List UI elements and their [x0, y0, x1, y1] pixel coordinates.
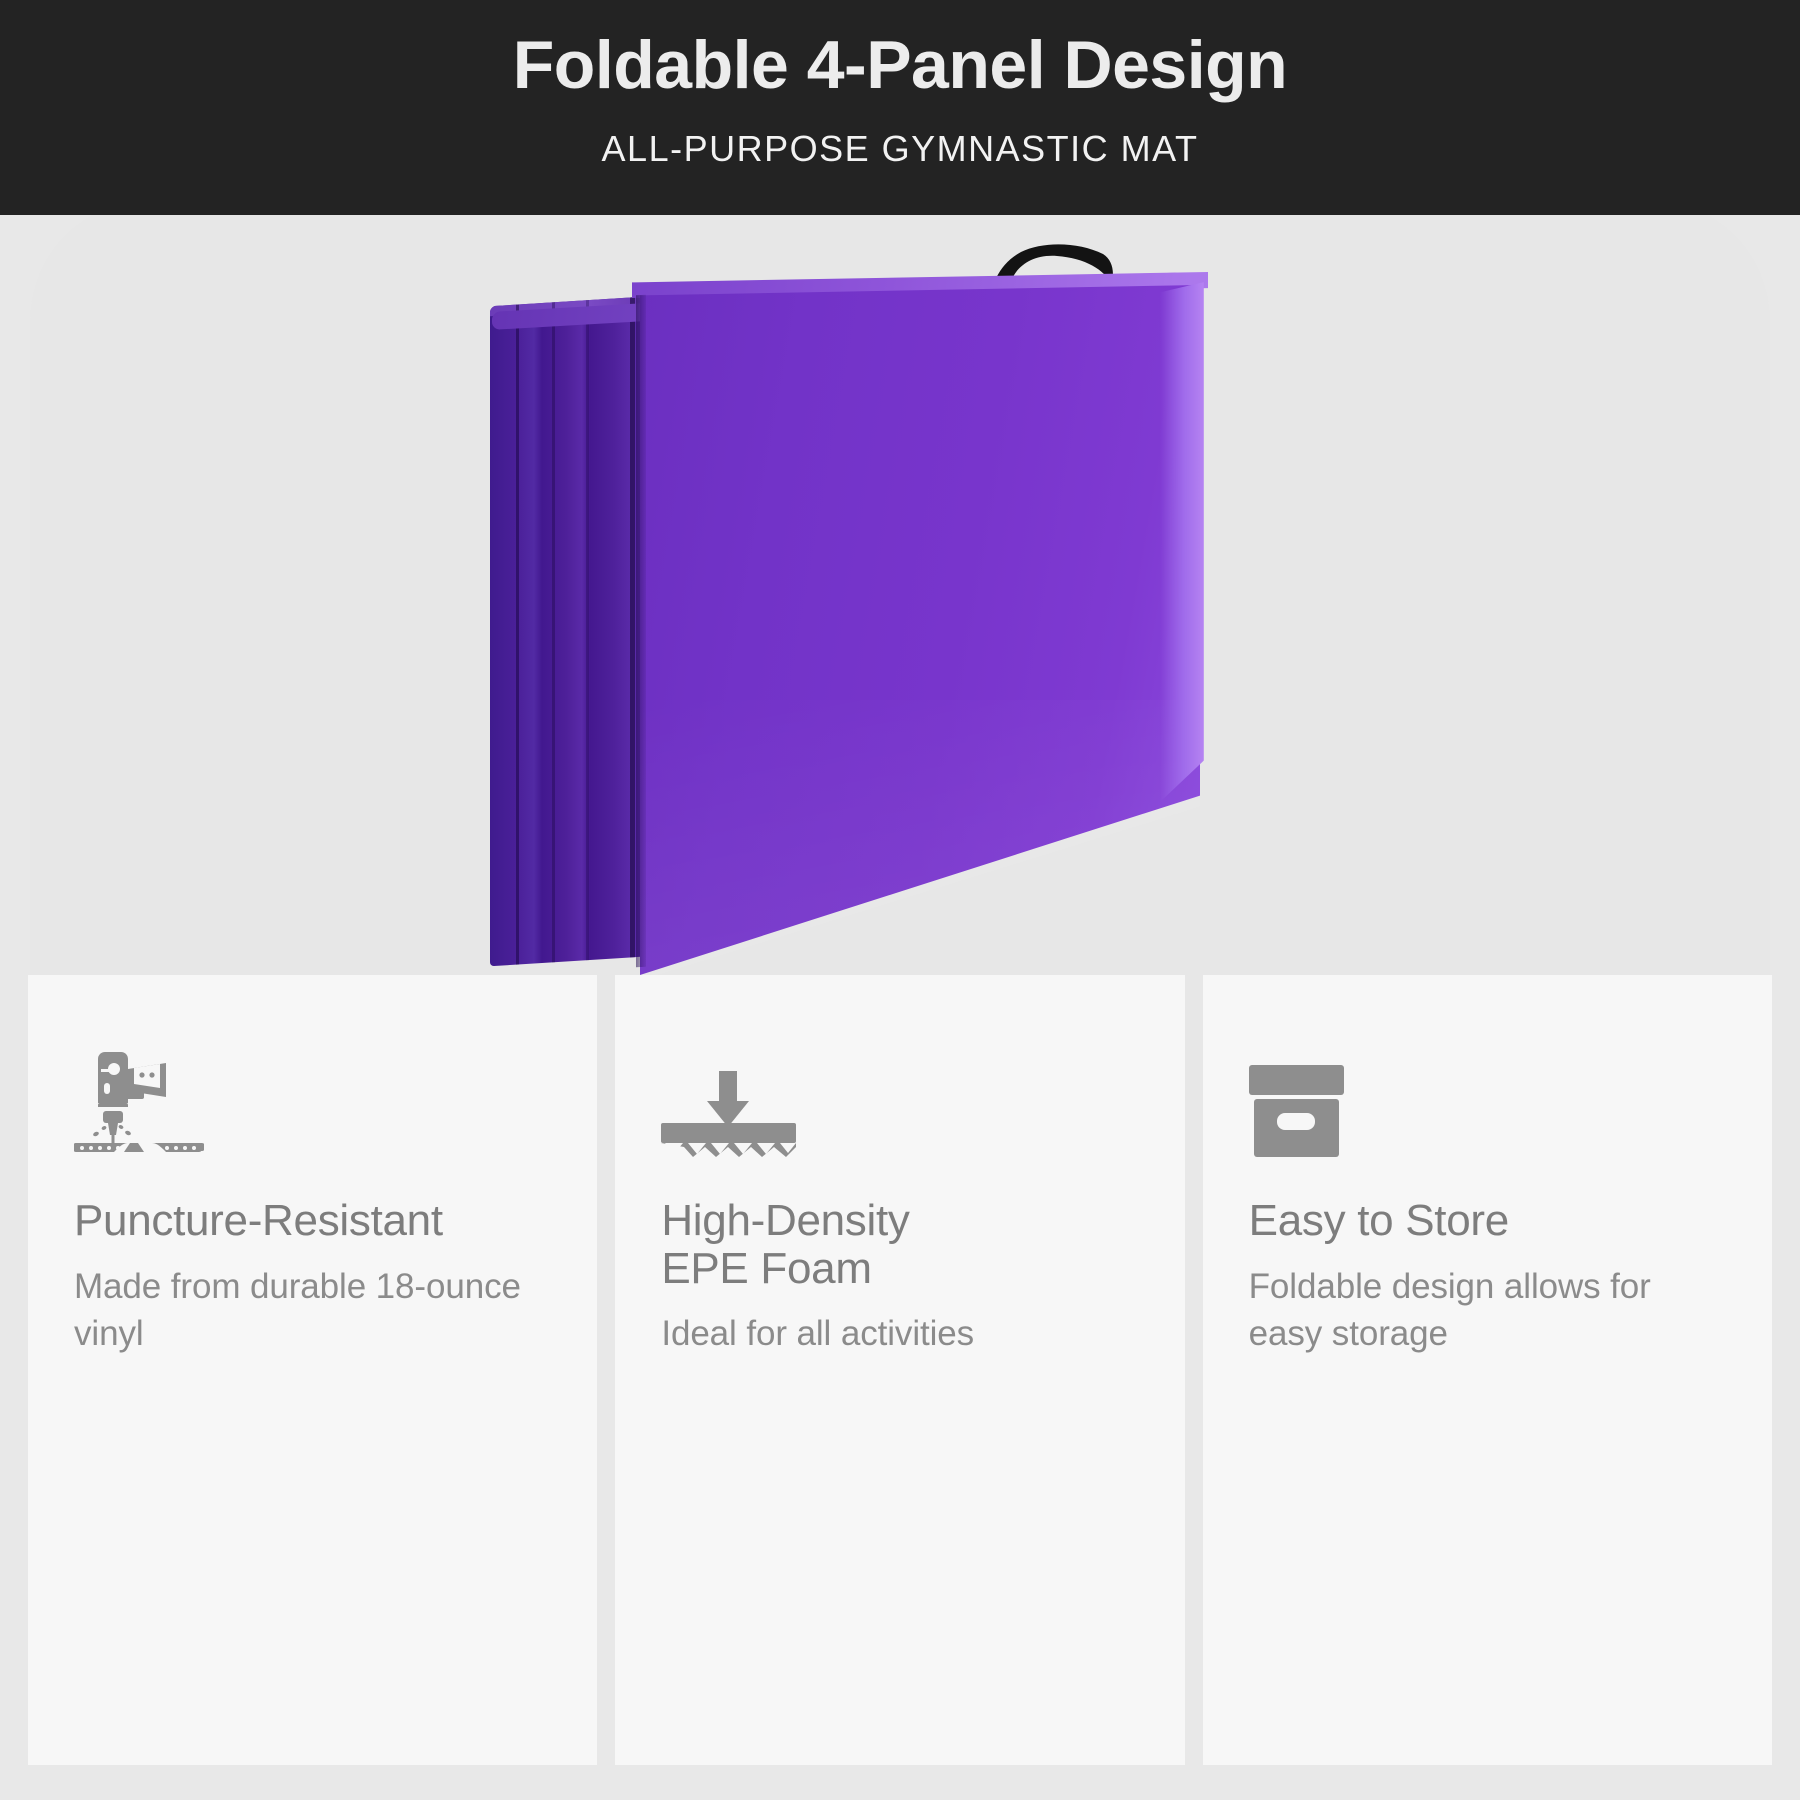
feature-title: Easy to Store	[1249, 1197, 1726, 1245]
feature-card-high-density-foam: High-Density EPE Foam Ideal for all acti…	[615, 975, 1184, 1765]
page-title: Foldable 4-Panel Design	[0, 30, 1800, 101]
promo-infographic: Foldable 4-Panel Design ALL-PURPOSE GYMN…	[0, 0, 1800, 1800]
feature-title: Puncture-Resistant	[74, 1197, 551, 1245]
header-band: Foldable 4-Panel Design ALL-PURPOSE GYMN…	[0, 0, 1800, 215]
feature-description: Foldable design allows for easy storage	[1249, 1263, 1726, 1358]
feature-card-puncture-resistant: Puncture-Resistant Made from durable 18-…	[28, 975, 597, 1765]
feature-title: High-Density EPE Foam	[661, 1197, 1138, 1292]
drill-puncture-icon	[74, 1047, 551, 1157]
feature-title-line-1: High-Density	[661, 1197, 1138, 1245]
feature-description: Ideal for all activities	[661, 1310, 1138, 1357]
hero-stage	[30, 200, 1770, 1100]
feature-card-easy-to-store: Easy to Store Foldable design allows for…	[1203, 975, 1772, 1765]
feature-title-line-2: EPE Foam	[661, 1245, 1138, 1293]
storage-box-icon	[1249, 1047, 1726, 1157]
feature-card-row: Puncture-Resistant Made from durable 18-…	[28, 975, 1772, 1765]
page-subtitle: ALL-PURPOSE GYMNASTIC MAT	[0, 128, 1800, 170]
feature-description: Made from durable 18-ounce vinyl	[74, 1263, 551, 1358]
foam-compression-arrow-icon	[661, 1047, 1138, 1157]
